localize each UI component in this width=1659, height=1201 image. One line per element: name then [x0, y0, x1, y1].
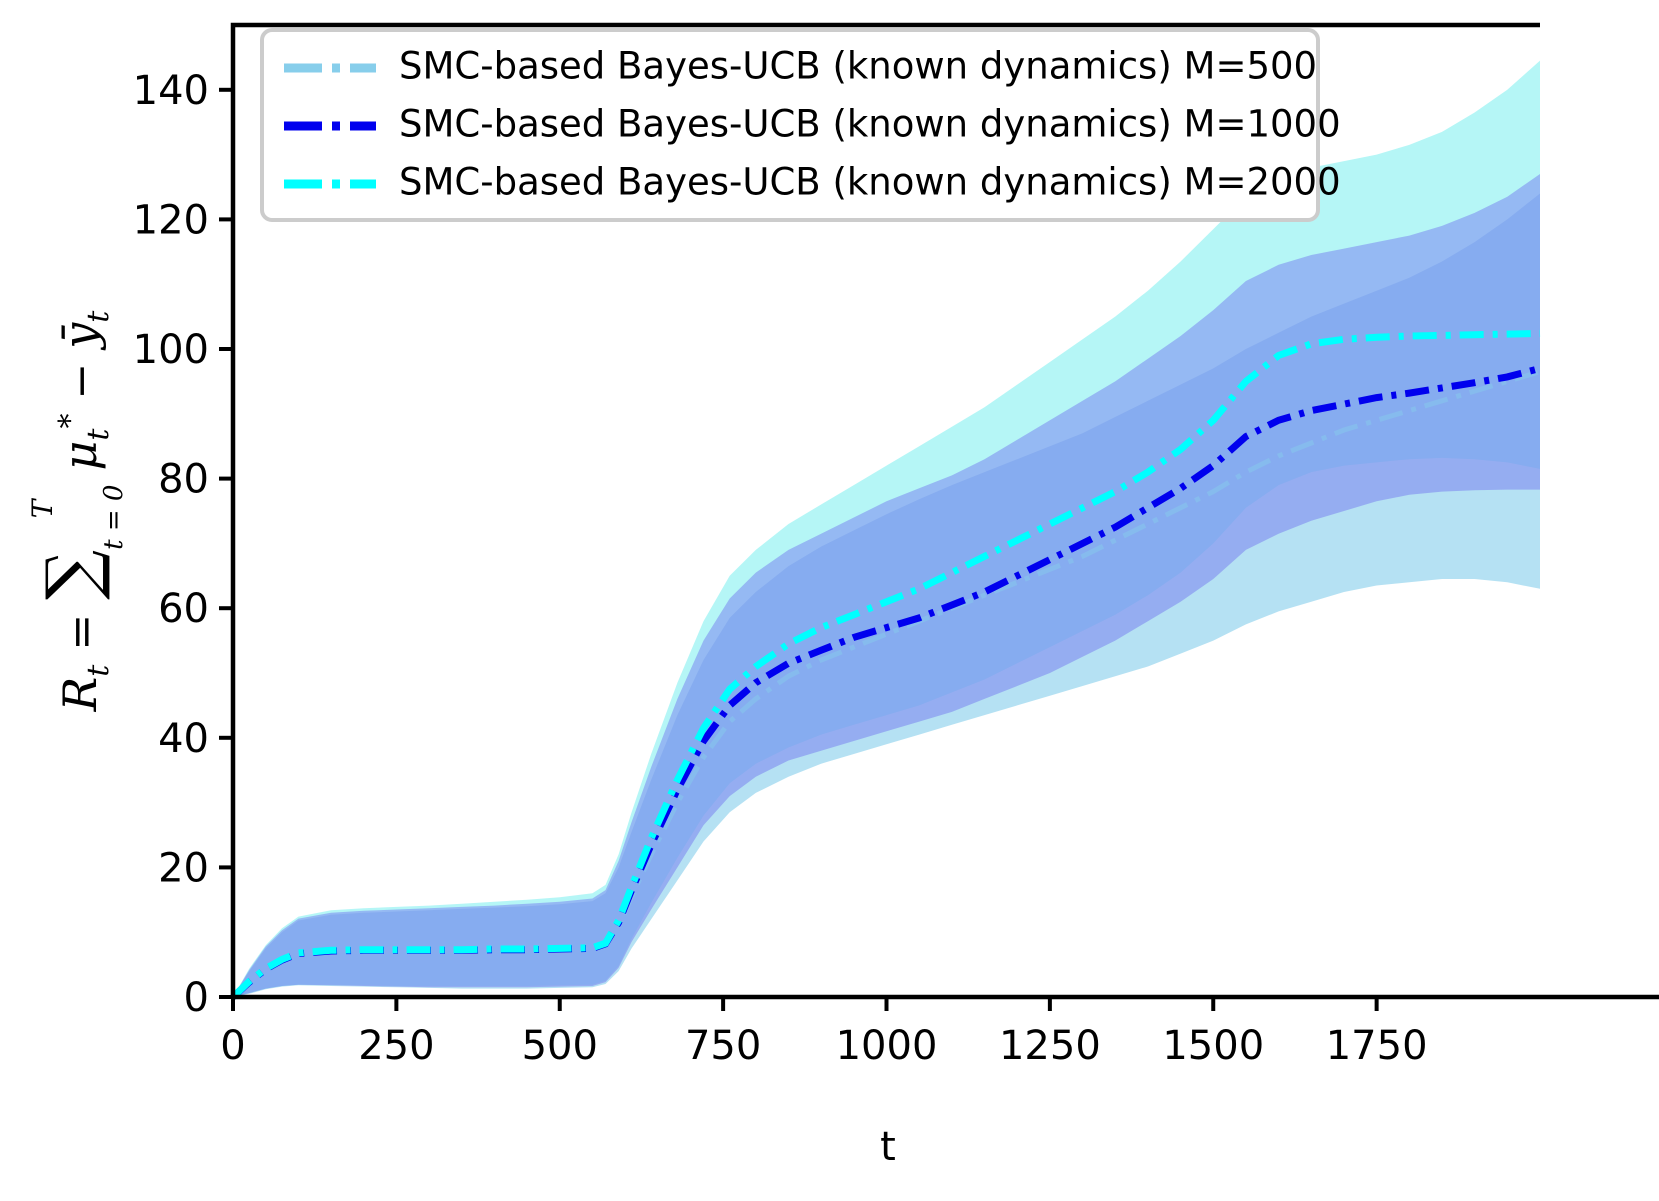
x-tick-label: 750	[685, 1023, 761, 1069]
y-tick-label: 100	[133, 327, 209, 373]
y-tick-label: 140	[133, 68, 209, 114]
legend-entry-label: SMC-based Bayes-UCB (known dynamics) M=5…	[399, 45, 1317, 88]
y-axis-label-math: Rt = ∑t = 0 μt* − ȳtT	[26, 310, 129, 713]
legend-entry[interactable]: SMC-based Bayes-UCB (known dynamics) M=2…	[284, 161, 1341, 204]
x-axis-label: t	[880, 1124, 896, 1170]
y-tick-label: 60	[158, 586, 209, 632]
y-tick-label: 80	[158, 457, 209, 503]
legend-entry[interactable]: SMC-based Bayes-UCB (known dynamics) M=1…	[284, 103, 1341, 146]
sigma-upper-limit: T	[26, 497, 59, 518]
x-tick-label: 0	[220, 1023, 245, 1069]
chart-legend: SMC-based Bayes-UCB (known dynamics) M=5…	[262, 30, 1341, 220]
x-tick-label: 1250	[999, 1023, 1101, 1069]
x-tick-label: 1750	[1326, 1023, 1428, 1069]
legend-entry-label: SMC-based Bayes-UCB (known dynamics) M=2…	[399, 161, 1341, 204]
y-tick-label: 40	[158, 716, 209, 762]
chart-figure: 0250500750100012501500175002040608010012…	[0, 0, 1659, 1201]
y-tick-label: 0	[184, 975, 209, 1021]
y-tick-label: 120	[133, 197, 209, 243]
legend-entry-label: SMC-based Bayes-UCB (known dynamics) M=1…	[399, 103, 1341, 146]
legend-entry[interactable]: SMC-based Bayes-UCB (known dynamics) M=5…	[284, 45, 1317, 88]
x-tick-label: 250	[358, 1023, 434, 1069]
y-tick-label: 20	[158, 845, 209, 891]
x-tick-label: 1500	[1162, 1023, 1264, 1069]
y-axis-label: Rt = ∑t = 0 μt* − ȳtT	[26, 310, 129, 713]
x-tick-label: 1000	[836, 1023, 938, 1069]
regret-line-chart: 0250500750100012501500175002040608010012…	[0, 0, 1659, 1201]
x-tick-label: 500	[522, 1023, 598, 1069]
